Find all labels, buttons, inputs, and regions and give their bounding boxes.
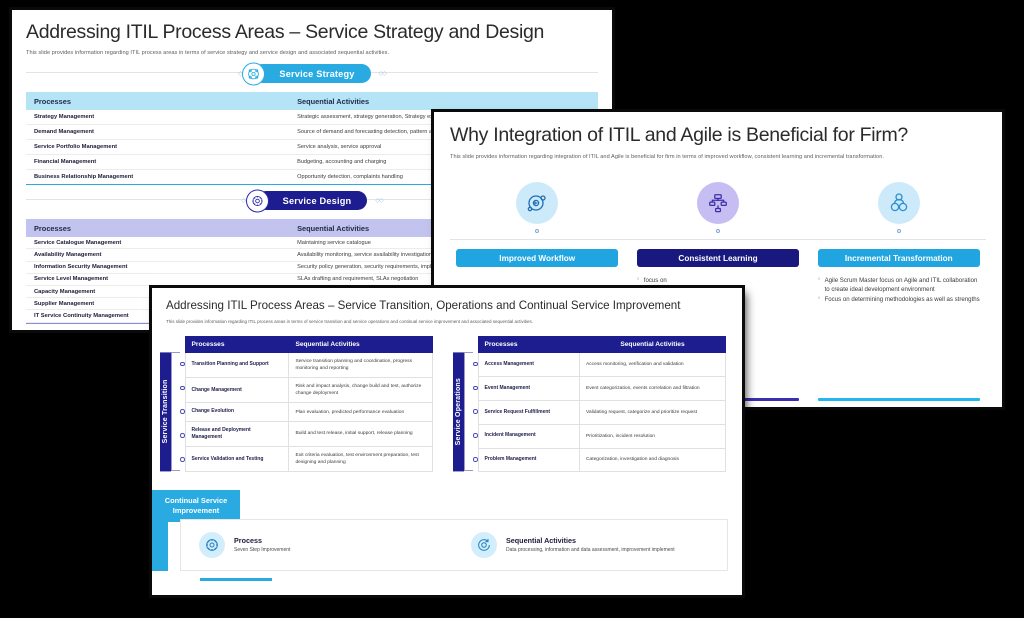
list-item: Focus on determining methodologies as we… bbox=[818, 295, 980, 304]
slide2-subtitle: This slide provides information regardin… bbox=[450, 154, 986, 160]
cell-activity: Prioritization, incident resolution bbox=[579, 424, 725, 448]
service-transition-table: Processes Sequential Activities Transiti… bbox=[185, 336, 434, 472]
hierarchy-icon bbox=[697, 182, 739, 224]
section-pill-label: Service Design bbox=[283, 196, 352, 206]
slide-service-transition-operations-csi[interactable]: Addressing ITIL Process Areas – Service … bbox=[152, 288, 742, 595]
team-collaboration-icon bbox=[878, 182, 920, 224]
connector-dot bbox=[897, 229, 901, 233]
col-sequential-activities: Sequential Activities bbox=[289, 337, 433, 353]
vertical-label-service-operations: Service Operations bbox=[453, 352, 464, 471]
cell-process: Incident Management bbox=[478, 424, 579, 448]
csi-tab-label[interactable]: Continual Service Improvement bbox=[152, 490, 240, 522]
cell-process: Event Management bbox=[478, 376, 579, 400]
table-row[interactable]: Incident ManagementPrioritization, incid… bbox=[478, 424, 726, 448]
table-row[interactable]: Change EvolutionPlan evaluation, predict… bbox=[185, 403, 433, 421]
cell-process: Change Management bbox=[185, 378, 289, 403]
button-incremental-transformation[interactable]: Incremental Transformation bbox=[818, 249, 980, 267]
col-processes: Processes bbox=[478, 337, 579, 353]
slide1-title: Addressing ITIL Process Areas – Service … bbox=[26, 21, 598, 44]
col-sequential-activities: Sequential Activities bbox=[579, 337, 725, 353]
csi-text: Data processing, information and data as… bbox=[506, 547, 675, 555]
cell-process: Problem Management bbox=[478, 448, 579, 472]
group-service-transition: Service Transition Processes Sequential … bbox=[160, 336, 433, 472]
cell-activity: Event categorization, events correlation… bbox=[579, 376, 725, 400]
button-consistent-learning[interactable]: Consistent Learning bbox=[637, 249, 799, 267]
table-header-row: Processes Sequential Activities bbox=[478, 337, 726, 353]
table-row[interactable]: Service Validation and TestingExit crite… bbox=[185, 447, 433, 472]
table-row[interactable]: Event ManagementEvent categorization, ev… bbox=[478, 376, 726, 400]
col-processes: Processes bbox=[26, 219, 289, 237]
service-operations-table: Processes Sequential Activities Access M… bbox=[478, 336, 727, 472]
gear-design-icon bbox=[246, 189, 269, 212]
csi-panel: Process Seven Step Improvement Seq bbox=[180, 519, 728, 571]
table-header-row: Processes Sequential Activities bbox=[185, 337, 433, 353]
cell-process: Service Portfolio Management bbox=[26, 140, 289, 155]
gear-circle-icon bbox=[199, 532, 225, 558]
col-processes: Processes bbox=[26, 92, 289, 110]
csi-item-process: Process Seven Step Improvement bbox=[199, 532, 437, 558]
cell-activity: Exit criteria evaluation, test environme… bbox=[289, 447, 433, 472]
button-improved-workflow[interactable]: Improved Workflow bbox=[456, 249, 618, 267]
workflow-cycle-icon bbox=[516, 182, 558, 224]
cell-activity: Plan evaluation, predicted performance e… bbox=[289, 403, 433, 421]
slide-deck-canvas: Addressing ITIL Process Areas – Service … bbox=[0, 0, 1024, 618]
section-pill-service-design[interactable]: Service Design bbox=[257, 191, 368, 210]
cell-process: Information Security Management bbox=[26, 261, 289, 273]
cell-process: Transition Planning and Support bbox=[185, 353, 289, 378]
connector-dot bbox=[535, 229, 539, 233]
cell-activity: Build and test release, initial support,… bbox=[289, 421, 433, 447]
cell-process: Availability Management bbox=[26, 249, 289, 261]
table-row[interactable]: Access ManagementAccess monitoring, veri… bbox=[478, 353, 726, 377]
list-item: focus on bbox=[637, 276, 799, 285]
cell-process: Service Catalogue Management bbox=[26, 237, 289, 249]
benefit-column-improved-workflow bbox=[456, 182, 618, 233]
cell-activity: Access monitoring, verification and vali… bbox=[579, 353, 725, 377]
refresh-cycle-icon bbox=[471, 532, 497, 558]
table-row[interactable]: Transition Planning and SupportService t… bbox=[185, 353, 433, 378]
section-pill-label: Service Strategy bbox=[279, 69, 354, 79]
cell-activity: Service transition planning and coordina… bbox=[289, 353, 433, 378]
csi-heading: Sequential Activities bbox=[506, 536, 675, 545]
right-connector-dots: ◇◇ bbox=[375, 197, 382, 204]
slide3-accent-bar bbox=[200, 578, 272, 581]
process-tables: Service Transition Processes Sequential … bbox=[160, 336, 726, 472]
accent-bar-cyan bbox=[818, 398, 980, 401]
table-row[interactable]: Change ManagementRisk and impact analysi… bbox=[185, 378, 433, 403]
cell-process: Demand Management bbox=[26, 125, 289, 140]
benefit-columns bbox=[434, 182, 1002, 233]
slide3-subtitle: This slide provides information regardin… bbox=[166, 319, 728, 324]
bracket-connector bbox=[464, 352, 473, 471]
group-service-operations: Service Operations Processes Sequential … bbox=[453, 336, 726, 472]
connector-dot bbox=[716, 229, 720, 233]
cell-activity: Validating request, categorize and prior… bbox=[579, 400, 725, 424]
col-processes: Processes bbox=[185, 337, 289, 353]
table-row[interactable]: Problem ManagementCategorization, invest… bbox=[478, 448, 726, 472]
cell-process: Service Level Management bbox=[26, 273, 289, 285]
cell-process: Change Evolution bbox=[185, 403, 289, 421]
cell-process: Strategy Management bbox=[26, 110, 289, 125]
col-sequential-activities: Sequential Activities bbox=[289, 92, 598, 110]
continual-service-improvement-block: Continual Service Improvement Process bbox=[152, 490, 742, 581]
network-nodes-icon bbox=[242, 62, 265, 85]
cell-process: Service Validation and Testing bbox=[185, 447, 289, 472]
csi-side-strip bbox=[152, 519, 168, 571]
csi-text: Seven Step Improvement bbox=[234, 547, 290, 555]
bullets-incremental-transformation: Agile Scrum Master focus on Agile and IT… bbox=[818, 276, 980, 305]
cell-process: Release and Deployment Management bbox=[185, 421, 289, 447]
table-row[interactable]: Release and Deployment ManagementBuild a… bbox=[185, 421, 433, 447]
table-row[interactable]: Service Request FulfillmentValidating re… bbox=[478, 400, 726, 424]
csi-heading: Process bbox=[234, 536, 290, 545]
benefit-column-incremental-transformation bbox=[818, 182, 980, 233]
cell-process: Access Management bbox=[478, 353, 579, 377]
slide1-subtitle: This slide provides information regardin… bbox=[26, 50, 598, 56]
section-pill-service-strategy[interactable]: Service Strategy bbox=[253, 64, 370, 83]
slide3-title: Addressing ITIL Process Areas – Service … bbox=[166, 299, 728, 312]
cell-process: Service Request Fulfillment bbox=[478, 400, 579, 424]
cell-activity: Categorization, investigation and diagno… bbox=[579, 448, 725, 472]
cell-process: Financial Management bbox=[26, 155, 289, 170]
right-connector-dots: ◇◇ bbox=[379, 70, 386, 77]
cell-process: Business Relationship Management bbox=[26, 170, 289, 185]
vertical-label-service-transition: Service Transition bbox=[160, 352, 171, 471]
slide2-title: Why Integration of ITIL and Agile is Ben… bbox=[450, 124, 986, 147]
bracket-connector bbox=[171, 352, 180, 471]
benefit-column-consistent-learning bbox=[637, 182, 799, 233]
cell-activity: Risk and impact analysis, change build a… bbox=[289, 378, 433, 403]
benefit-block-3: Incremental Transformation Agile Scrum M… bbox=[818, 249, 980, 357]
csi-item-sequential-activities: Sequential Activities Data processing, i… bbox=[471, 532, 709, 558]
table-header-row: Processes Sequential Activities bbox=[26, 92, 598, 110]
list-item: Agile Scrum Master focus on Agile and IT… bbox=[818, 276, 980, 294]
